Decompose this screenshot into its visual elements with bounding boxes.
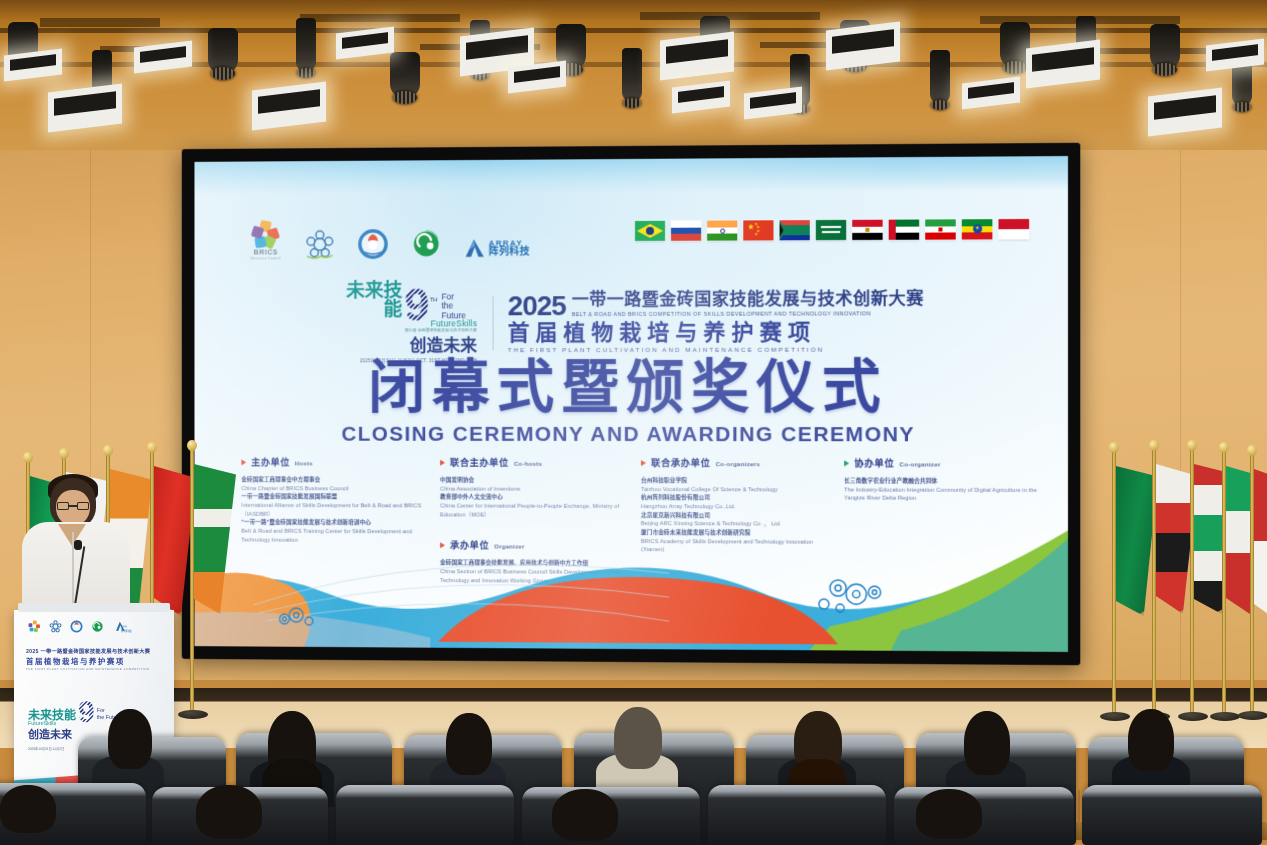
audience-person xyxy=(916,789,986,839)
podium-title-cn-small: 一带一路暨金砖国家技能发展与技术创新大赛 xyxy=(41,649,151,655)
podium-sponsor-logos: RAY 阵列科技 xyxy=(28,620,132,633)
flag-russia xyxy=(671,221,701,241)
event-en-line2: THE FIRST PLANT CULTIVATION AND MAINTENA… xyxy=(508,347,924,355)
event-cn-line2: 首届植物栽培与养护赛项 xyxy=(508,321,924,344)
sponsor-logo-row: BRICS Business Council xyxy=(249,219,530,260)
spotlight-fixture xyxy=(1150,24,1180,70)
organizer-name-cn: 中国发明协会 xyxy=(440,477,629,486)
section-title-cn: 主办单位 xyxy=(251,454,290,468)
audience-person xyxy=(196,785,266,839)
audience-person xyxy=(596,695,678,801)
podium-title-en: THE FIRST PLANT CULTIVATION AND MAINTENA… xyxy=(26,667,164,671)
audience-chair xyxy=(708,785,886,845)
spotlight-fixture xyxy=(930,50,950,104)
section-title-en: Co-organizer xyxy=(899,461,940,468)
section-title-en: Co-organizers xyxy=(716,461,760,468)
futureskills-cn-left: 未来技能 xyxy=(333,282,402,320)
event-year: 2025 xyxy=(508,293,566,318)
podium-year: 2025 xyxy=(26,649,39,655)
auditorium-scene: BRICS Business Council xyxy=(0,0,1267,845)
flag-indonesia xyxy=(999,219,1030,239)
section-title-cn: 联合主办单位 xyxy=(450,455,509,469)
audience-chair xyxy=(336,785,514,845)
event-en-line1: BELT & ROAD AND BRICS COMPETITION OF SKI… xyxy=(572,311,924,318)
led-display-screen: BRICS Business Council xyxy=(182,143,1080,665)
brics-logo-small xyxy=(28,620,41,633)
organizer-name-en: China Center for International People-to… xyxy=(440,502,629,520)
array-logo-cn: 阵列科技 xyxy=(489,248,530,259)
stage-light-panel xyxy=(48,83,122,132)
tagline-line2: the Future xyxy=(441,301,465,321)
organizer-name-cn: 台州科技职业学院 xyxy=(641,477,832,486)
stage-light-panel xyxy=(1026,39,1100,88)
section-title-cn: 协办单位 xyxy=(854,455,894,469)
audience-person xyxy=(0,785,60,833)
main-heading: 闭幕式暨颁奖仪式 CLOSING CEREMONY AND AWARDING C… xyxy=(194,358,1068,447)
futureskills-cn-right: 创造未来 xyxy=(333,331,477,356)
brics-business-council-logo: BRICS Business Council xyxy=(249,221,282,261)
organizer-name-en: The Industry-Education Integration Commu… xyxy=(844,486,1037,504)
audience-person xyxy=(552,789,622,841)
audience-chair xyxy=(1082,785,1262,845)
eyeglasses-icon xyxy=(57,502,89,510)
bullet-triangle-icon xyxy=(641,460,646,466)
section-title-en: Co-hosts xyxy=(514,461,542,468)
flag-brazil xyxy=(635,221,665,241)
stage-light-panel xyxy=(4,48,62,81)
flag-south-africa xyxy=(780,220,810,240)
flag-iran xyxy=(925,219,955,239)
stage-light-panel xyxy=(744,86,802,119)
flag-ethiopia: ★ xyxy=(962,219,993,239)
podium-title-block: 2025 一带一路暨金砖国家技能发展与技术创新大赛 首届植物栽培与养护赛项 TH… xyxy=(26,648,164,671)
podium-title-cn: 首届植物栽培与养护赛项 xyxy=(26,656,164,667)
blue-flower-institute-logo xyxy=(304,229,335,261)
tagline-line1: For xyxy=(441,291,454,301)
podium-small-title: 2025 一带一路暨金砖国家技能发展与技术创新大赛 xyxy=(26,648,164,655)
stage-light-panel xyxy=(252,81,326,130)
array-logo-small: RAY 阵列科技 xyxy=(112,620,132,633)
member-country-flags: ★ ★ ★ ★ ★ xyxy=(635,219,1029,241)
green-circular-logo xyxy=(410,228,442,260)
futureskills-ordinal: TH xyxy=(430,298,438,304)
organizer-name-en: Hangzhou Array Technology Co.,Ltd. xyxy=(641,503,832,512)
bullet-triangle-icon xyxy=(844,460,849,466)
futureskills-numeral: 9 xyxy=(404,287,429,324)
blue-circular-seal-logo xyxy=(357,228,389,260)
ceiling-truss-area xyxy=(0,0,1267,152)
bullet-triangle-icon xyxy=(440,460,445,466)
event-cn-line1: 一带一路暨金砖国家技能发展与技术创新大赛 xyxy=(572,289,924,309)
brics-logo-sublabel: Business Council xyxy=(249,257,282,261)
blue-flower-logo-small xyxy=(49,620,62,633)
spotlight-fixture xyxy=(390,52,420,98)
organizer-name-cn: 长三角数字农业行业产教融合共同体 xyxy=(844,477,1037,486)
flag-egypt xyxy=(852,220,882,240)
stage-light-panel xyxy=(962,76,1020,109)
stage-light-panel xyxy=(134,40,192,73)
main-heading-en: CLOSING CEREMONY AND AWARDING CEREMONY xyxy=(194,423,1068,448)
green-logo-small xyxy=(91,620,104,633)
flag-saudi-arabia xyxy=(816,220,846,240)
event-title-block: 未来技能 9 TH For the Future FutureSkills 第九… xyxy=(194,280,1068,365)
stage-light-panel xyxy=(508,60,566,93)
array-technology-logo: ARRAY 阵列科技 xyxy=(464,238,530,260)
organizer-name-cn: 金砖国家工商理事会中方理事会 xyxy=(241,476,428,485)
spotlight-fixture xyxy=(296,18,316,72)
blue-seal-logo-small xyxy=(70,620,83,633)
spotlight-fixture xyxy=(208,28,238,74)
main-heading-cn: 闭幕式暨颁奖仪式 xyxy=(194,358,1068,417)
futureskills-logo: 未来技能 9 TH For the Future FutureSkills 第九… xyxy=(333,281,479,364)
organizer-name-en: International Alliance of Skills Develop… xyxy=(241,502,428,520)
svg-text:RAY: RAY xyxy=(122,625,128,629)
microphone-icon xyxy=(74,540,82,550)
podium-top-surface xyxy=(18,603,170,612)
stage-light-panel xyxy=(336,26,394,59)
svg-text:阵列科技: 阵列科技 xyxy=(121,629,132,633)
section-title-cn: 联合承办单位 xyxy=(651,455,711,469)
screen-content: BRICS Business Council xyxy=(194,156,1068,652)
section-title-en: Hosts xyxy=(295,460,313,467)
flag-uae xyxy=(889,220,919,240)
stage-light-panel xyxy=(672,80,730,113)
stage-light-panel xyxy=(660,31,734,80)
flag-india xyxy=(707,220,737,240)
title-divider xyxy=(493,296,494,350)
futureskills-tagline: For the Future xyxy=(441,292,477,321)
stage-light-panel xyxy=(1148,87,1222,136)
bullet-triangle-icon xyxy=(241,459,246,465)
decorative-wave-graphic xyxy=(194,520,1068,652)
spotlight-fixture xyxy=(622,48,642,102)
gear-icon xyxy=(819,580,881,613)
flag-china: ★ ★ ★ ★ ★ xyxy=(743,220,773,240)
audience-rows xyxy=(0,700,1267,845)
